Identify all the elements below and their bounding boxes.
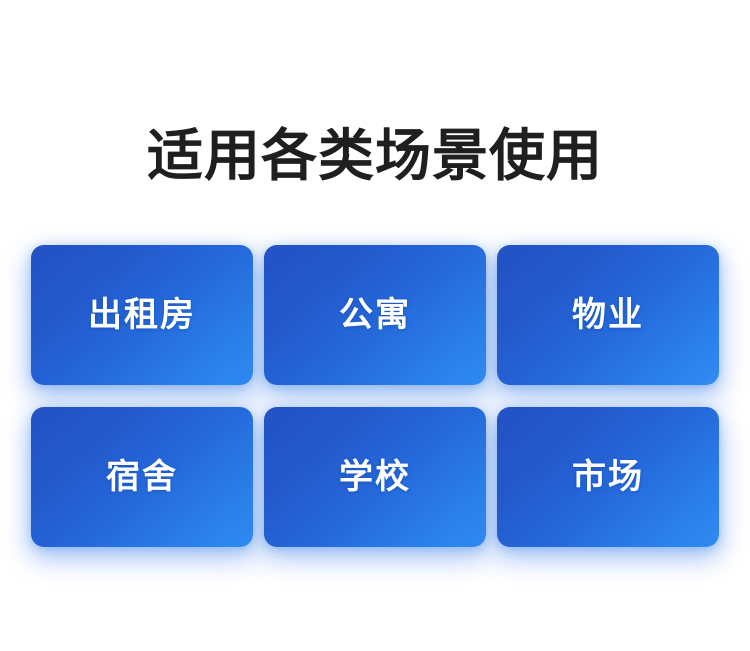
scenario-card-label: 物业 [572, 298, 644, 332]
scenario-card-label: 市场 [572, 460, 644, 494]
scenario-showcase-page: 适用各类场景使用 出租房 公寓 物业 宿舍 学校 市场 [0, 0, 750, 651]
scenario-card-school[interactable]: 学校 [264, 407, 486, 547]
scenario-card-label: 公寓 [339, 298, 411, 332]
scenario-card-rental-housing[interactable]: 出租房 [31, 245, 253, 385]
page-title: 适用各类场景使用 [147, 124, 603, 190]
scenario-card-dormitory[interactable]: 宿舍 [31, 407, 253, 547]
scenario-card-apartment[interactable]: 公寓 [264, 245, 486, 385]
scenario-card-label: 宿舍 [106, 460, 178, 494]
scenario-card-grid: 出租房 公寓 物业 宿舍 学校 市场 [31, 245, 719, 547]
scenario-card-label: 出租房 [88, 298, 196, 332]
scenario-card-property-management[interactable]: 物业 [497, 245, 719, 385]
scenario-card-market[interactable]: 市场 [497, 407, 719, 547]
page-title-container: 适用各类场景使用 [0, 86, 750, 227]
scenario-card-label: 学校 [339, 460, 411, 494]
